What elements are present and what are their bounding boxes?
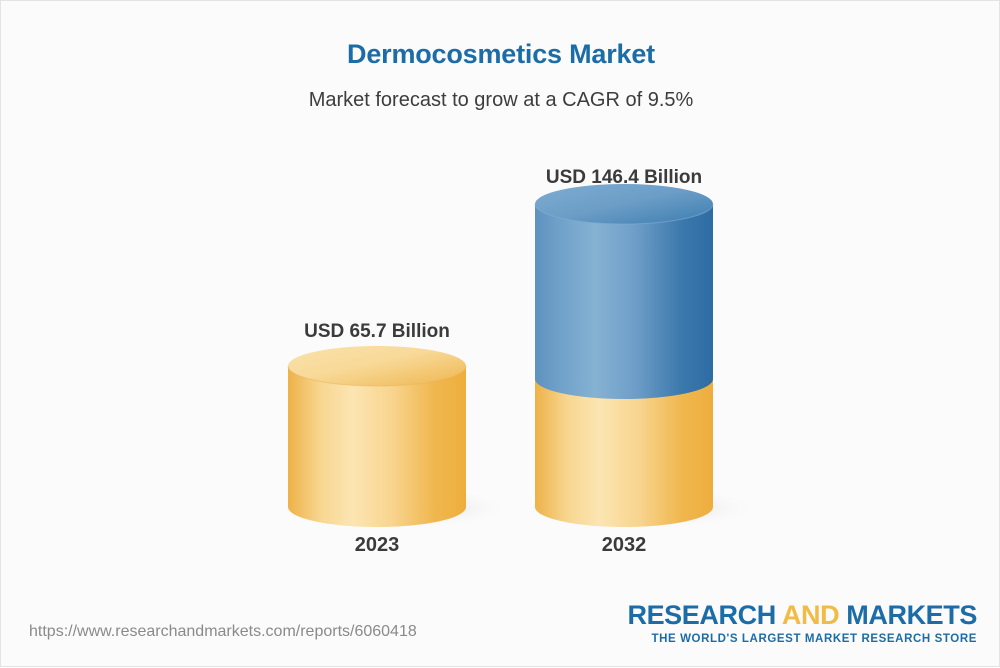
bar-2023[interactable] bbox=[288, 346, 466, 527]
logo-word-and: AND bbox=[782, 600, 839, 630]
logo-wordmark: RESEARCH AND MARKETS bbox=[627, 602, 977, 629]
chart-card: Dermocosmetics Market Market forecast to… bbox=[0, 0, 1000, 667]
category-label-2023: 2023 bbox=[287, 534, 467, 557]
report-url[interactable]: https://www.researchandmarkets.com/repor… bbox=[29, 623, 417, 641]
bar-2032[interactable] bbox=[535, 184, 713, 527]
bar-2032-segment-base bbox=[535, 379, 713, 527]
logo-word-research: RESEARCH bbox=[627, 600, 781, 630]
logo-tagline: THE WORLD'S LARGEST MARKET RESEARCH STOR… bbox=[627, 634, 977, 646]
category-label-2032: 2032 bbox=[534, 534, 714, 557]
bar-value-label-2032: USD 146.4 Billion bbox=[534, 167, 714, 189]
bar-chart-plot bbox=[1, 1, 1000, 668]
bar-value-label-2023: USD 65.7 Billion bbox=[287, 321, 467, 343]
research-and-markets-logo[interactable]: RESEARCH AND MARKETS THE WORLD'S LARGEST… bbox=[627, 602, 977, 646]
bar-2032-segment-growth bbox=[535, 204, 713, 399]
bar-2023-body bbox=[288, 366, 466, 527]
logo-word-markets: MARKETS bbox=[839, 600, 977, 630]
